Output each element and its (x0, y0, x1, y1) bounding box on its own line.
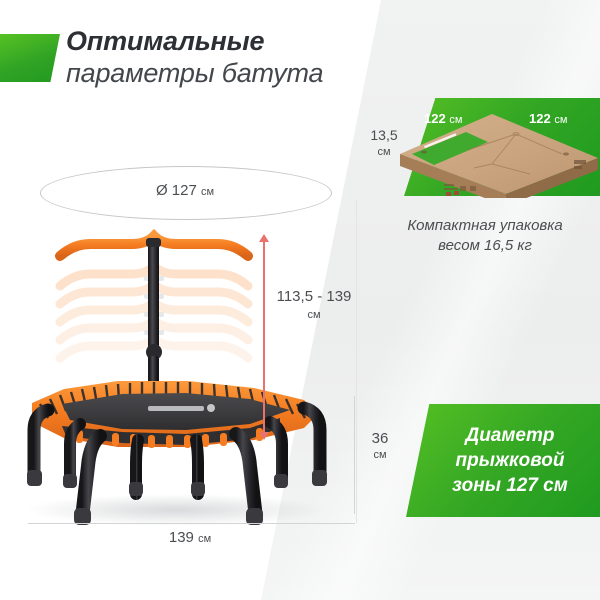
handle-height-label: 113,5 - 139 см (268, 288, 360, 324)
jump-zone-callout: Диаметр прыжковой зоны 127 см (406, 404, 600, 517)
floor-shadow (26, 494, 326, 526)
callout-text-block: Диаметр прыжковой зоны 127 см (438, 423, 568, 498)
leg-height-label: 36 см (360, 430, 400, 464)
package-thickness-value: 13,5 (370, 127, 397, 143)
package-caption-line2: весом 16,5 кг (372, 236, 598, 256)
base-width-label: 139 см (120, 529, 260, 546)
infographic-canvas: Оптимальные параметры батута Ø 127 см (0, 0, 600, 600)
jump-zone-diameter-value: Ø 127 (156, 182, 197, 199)
header: Оптимальные параметры батута (0, 26, 420, 98)
package-box-svg (396, 112, 600, 198)
base-width-dimension-line (28, 523, 355, 524)
handle-height-value: 113,5 - 139 (277, 288, 352, 305)
leg-height-unit: см (360, 447, 400, 464)
package-caption: Компактная упаковка весом 16,5 кг (372, 216, 598, 256)
callout-line2: прыжковой (452, 448, 568, 473)
header-text-block: Оптимальные параметры батута (66, 26, 406, 89)
jump-zone-diameter-label: Ø 127 см (40, 182, 330, 199)
handle-height-unit: см (268, 306, 360, 324)
handlebar-clamp (146, 238, 161, 247)
page-title-line1: Оптимальные (66, 26, 406, 57)
package-box-illustration (396, 112, 600, 198)
callout-line3: зоны 127 см (452, 473, 568, 498)
arrow-down-icon (259, 432, 269, 440)
handle-height-dimension-arrow (263, 234, 265, 440)
base-width-unit: см (198, 533, 211, 545)
package-caption-line1: Компактная упаковка (372, 216, 598, 236)
callout-line1: Диаметр (452, 423, 568, 448)
trampoline-svg (18, 228, 348, 528)
base-width-value: 139 (169, 529, 194, 546)
dimension-shaft (263, 240, 265, 434)
leg-height-value: 36 (372, 430, 389, 447)
header-accent-mark (0, 34, 60, 82)
box-fragile-marks (446, 191, 459, 196)
page-title-line2: параметры батута (66, 57, 406, 89)
jump-zone-diameter-unit: см (201, 186, 214, 198)
leg-height-dimension-line (354, 396, 355, 514)
trampoline-illustration (18, 228, 348, 528)
